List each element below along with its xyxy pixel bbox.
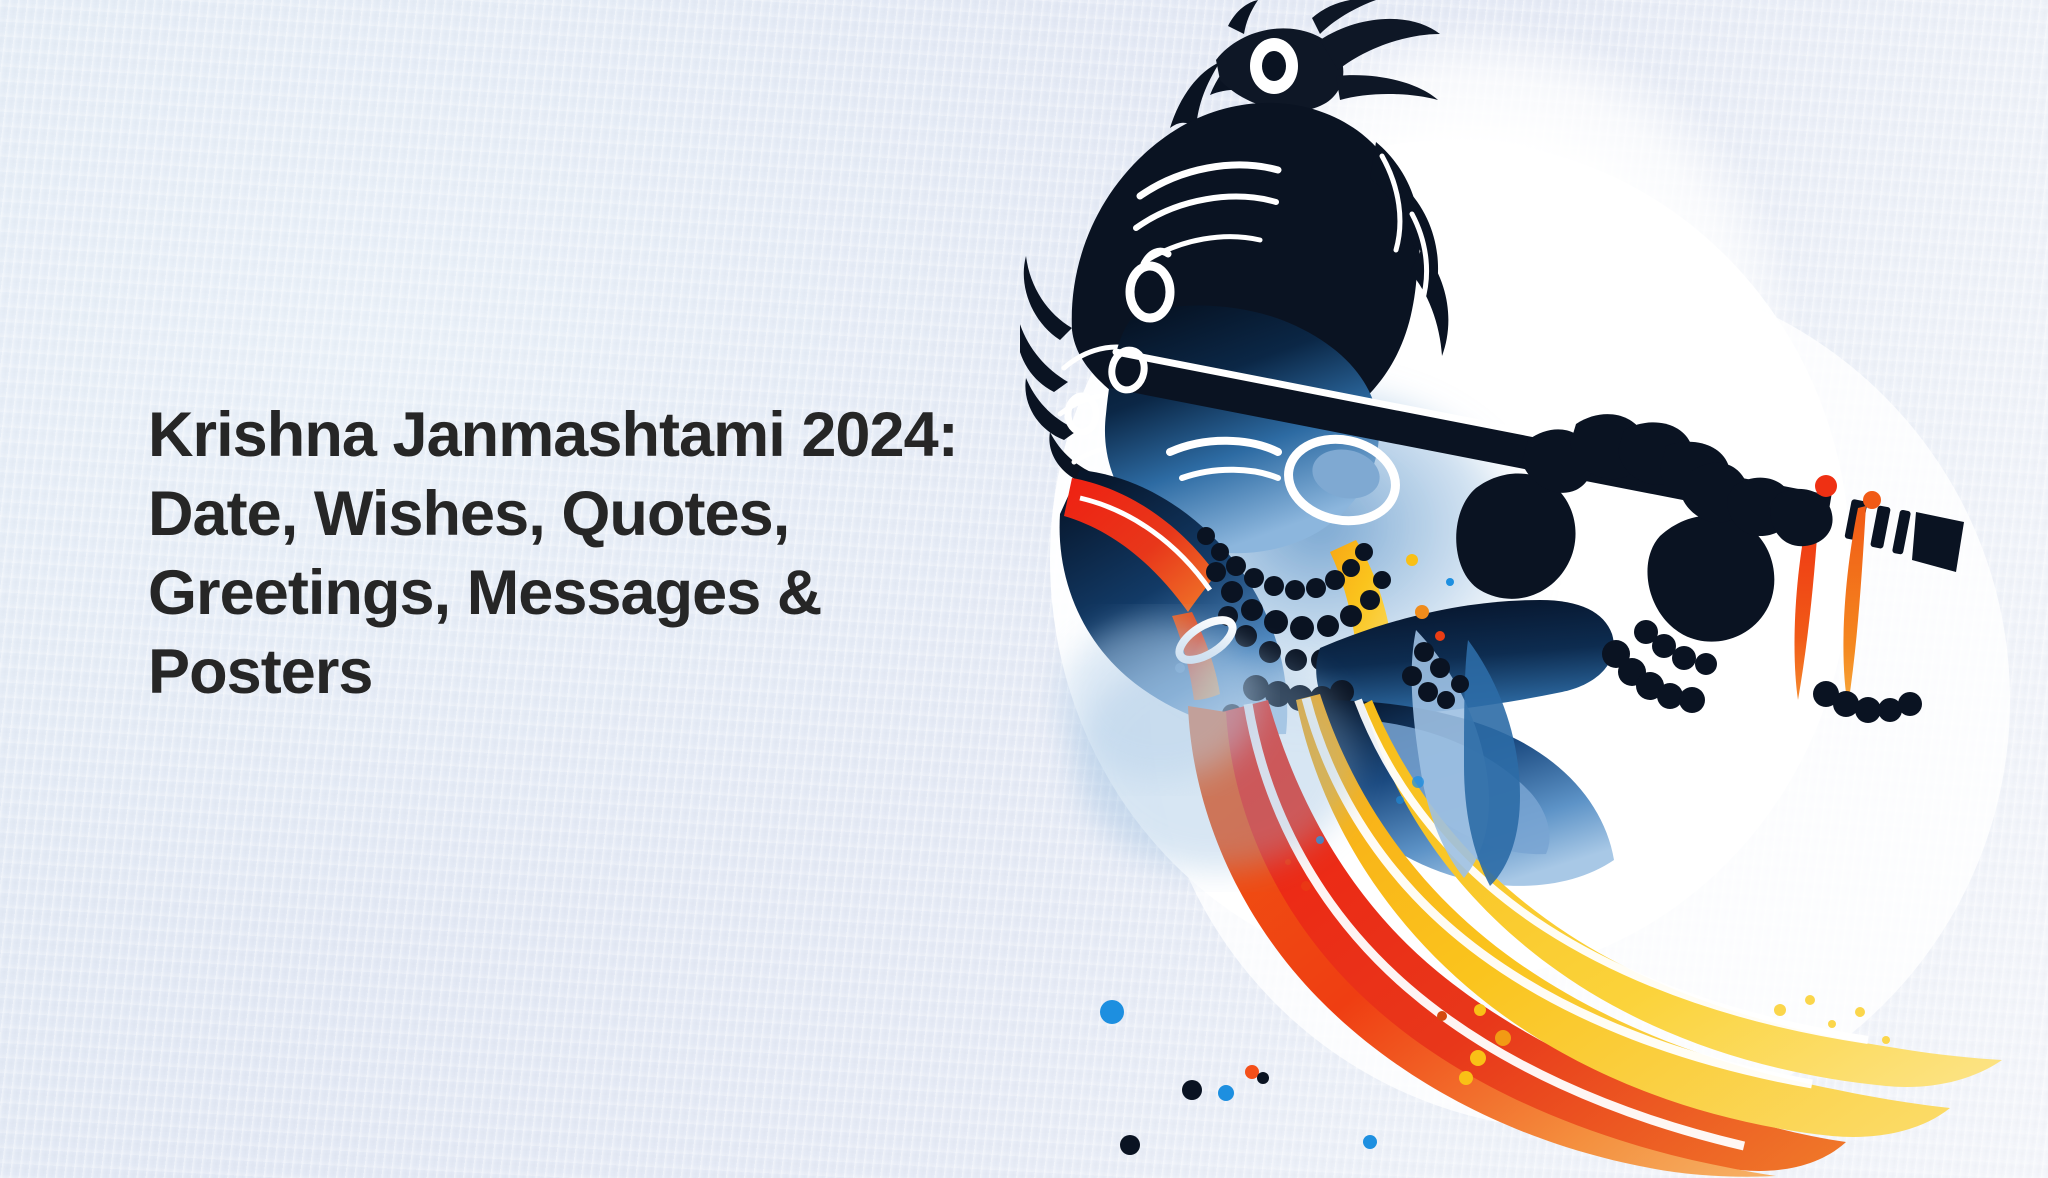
headline-block: Krishna Janmashtami 2024: Date, Wishes, … <box>148 396 968 712</box>
krishna-illustration <box>1020 0 2048 1178</box>
krishna-janmashtami-banner: Krishna Janmashtami 2024: Date, Wishes, … <box>0 0 2048 1178</box>
page-title: Krishna Janmashtami 2024: Date, Wishes, … <box>148 396 968 712</box>
